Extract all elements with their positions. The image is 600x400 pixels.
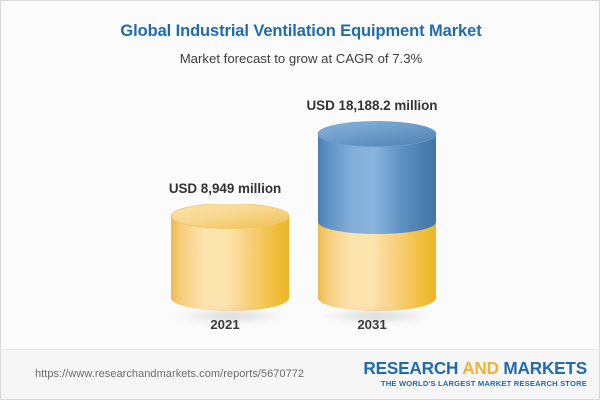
- logo-word-research: RESEARCH: [363, 358, 462, 378]
- logo-wordmark: RESEARCH AND MARKETS: [363, 359, 587, 378]
- cylinder-2021-svg: [169, 204, 291, 312]
- bar-group-2031: USD 18,188.2 million: [300, 1, 444, 351]
- logo-word-and: AND: [462, 358, 503, 378]
- bar-category-label-2031: 2031: [357, 317, 386, 332]
- cylinder-2021: [169, 204, 291, 317]
- footer-bar: https://www.researchandmarkets.com/repor…: [1, 349, 600, 399]
- cylinder-2031: [316, 121, 438, 317]
- logo-word-markets: MARKETS: [503, 358, 587, 378]
- bar-value-label-2021: USD 8,949 million: [169, 181, 281, 196]
- logo-tagline: THE WORLD'S LARGEST MARKET RESEARCH STOR…: [363, 379, 587, 389]
- research-and-markets-logo[interactable]: RESEARCH AND MARKETS THE WORLD'S LARGEST…: [363, 359, 587, 389]
- bar-value-label-2031: USD 18,188.2 million: [307, 98, 438, 113]
- infographic-root: Global Industrial Ventilation Equipment …: [0, 0, 600, 400]
- chart-plot-area: USD 8,949 million: [1, 1, 600, 351]
- cylinder-2031-svg: [316, 121, 438, 312]
- bar-category-label-2021: 2021: [210, 317, 239, 332]
- report-url[interactable]: https://www.researchandmarkets.com/repor…: [35, 368, 304, 380]
- bar-group-2021: USD 8,949 million: [153, 1, 297, 351]
